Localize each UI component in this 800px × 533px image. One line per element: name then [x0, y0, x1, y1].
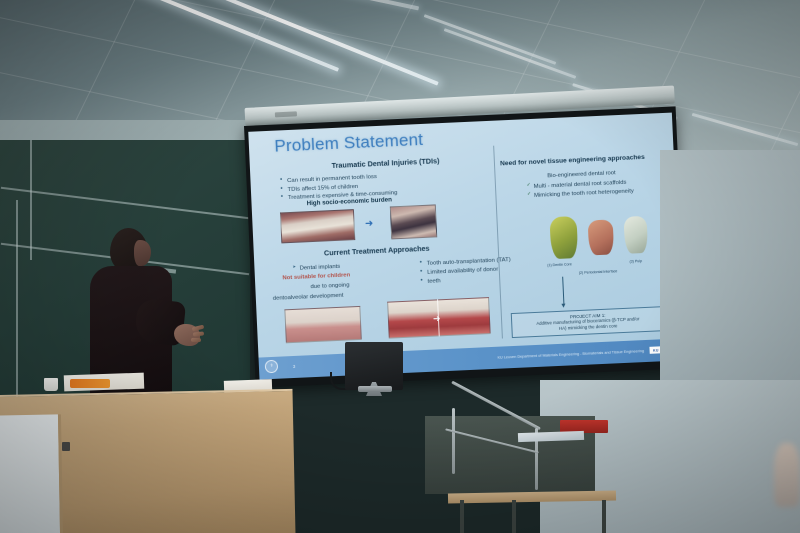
- down-arrow-icon: [563, 276, 565, 303]
- project-aim-box: PROJECT AIM 1: Additive manufacturing of…: [511, 307, 665, 339]
- screen-frame: Problem Statement Traumatic Dental Injur…: [244, 106, 687, 387]
- presenter-finger: [193, 331, 204, 336]
- warning-line-3: dentoalveolar development: [273, 293, 344, 302]
- footer-department: KU Leuven Department of Materials Engine…: [497, 349, 644, 360]
- warning-line-2: due to ongoing: [310, 282, 349, 290]
- arrow-right-white-icon: ➜: [433, 314, 441, 323]
- list-item: Dental implants: [293, 263, 341, 274]
- slide-title: Problem Statement: [274, 130, 424, 157]
- monitor-stand: [358, 386, 392, 392]
- bio-root-check-list: Multi - material dental root scaffolds M…: [527, 179, 635, 201]
- right-column-subheading: Bio-engineered dental root: [547, 170, 616, 179]
- presenter-finger: [191, 338, 201, 342]
- audience-member-blurred: [774, 443, 800, 507]
- tooth-model-dentin-core: [549, 216, 578, 259]
- presentation-slide: Problem Statement Traumatic Dental Injur…: [248, 113, 683, 380]
- housing-brand-mark: [275, 111, 297, 117]
- lecture-hall-scene: Problem Statement Traumatic Dental Injur…: [0, 0, 800, 533]
- tooth-label-2: (2) Periodontal Interface: [575, 269, 621, 276]
- coffee-cup: [44, 378, 58, 391]
- presenter-face: [134, 240, 151, 266]
- arrow-right-icon: ➜: [365, 219, 374, 229]
- orange-package: [70, 379, 110, 388]
- right-wall-upper: [660, 150, 800, 400]
- panel-latch: [62, 442, 70, 451]
- handrail-post: [452, 408, 455, 474]
- lectern-side-panel: [0, 414, 63, 533]
- tooth-label-1: (1) Dentin Core: [537, 262, 583, 269]
- clinical-photo-after: [390, 204, 438, 240]
- implant-diagram: [284, 305, 362, 343]
- not-suitable-warning: Not suitable for children: [282, 272, 350, 281]
- projection-screen: Problem Statement Traumatic Dental Injur…: [244, 106, 687, 387]
- clinical-photo-before: [279, 209, 355, 243]
- dental-implants-list: Dental implants: [293, 263, 341, 274]
- slide-number: 3: [293, 364, 296, 369]
- tooth-model-pulp: [623, 215, 648, 253]
- tooth-model-periodontal: [588, 220, 615, 256]
- tooth-label-3: (3) Pulp: [613, 258, 659, 265]
- slide-footer: 3 KU Leuven Department of Materials Engi…: [259, 338, 684, 380]
- side-table-legs: [452, 500, 612, 533]
